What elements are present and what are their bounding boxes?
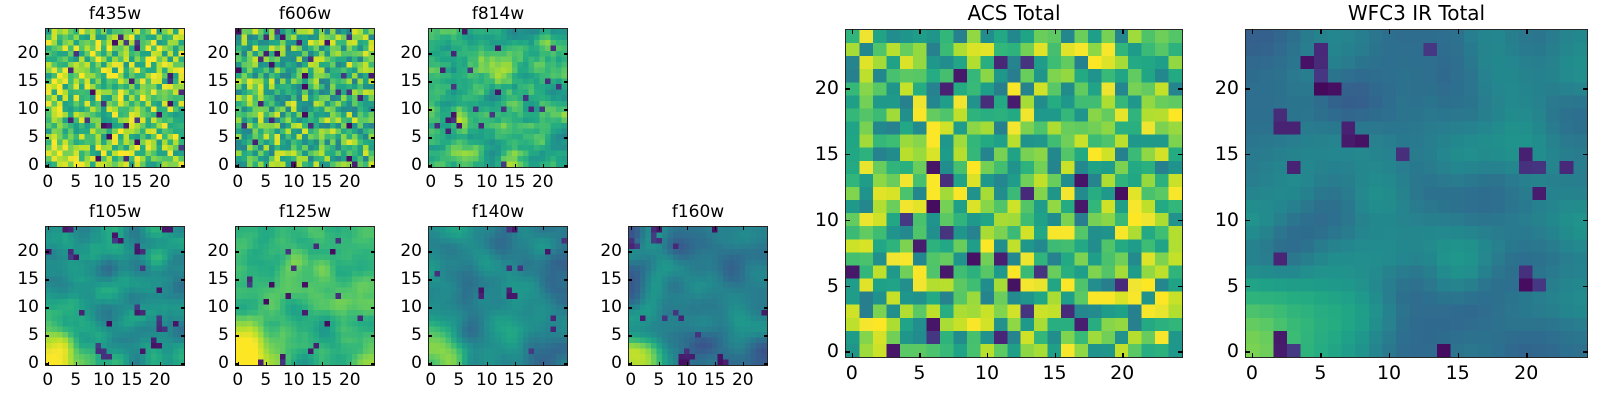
x-tick-top-f814w-10 — [487, 28, 488, 32]
heatmap-f125w[interactable] — [235, 226, 375, 366]
x-tick-top-acs-total-0 — [852, 29, 853, 34]
y-tick-acs-total-5 — [845, 286, 850, 287]
y-tick-f435w-10 — [45, 109, 49, 110]
y-tick-right-f606w-10 — [371, 109, 375, 110]
x-ticklabel-wfc3-ir-total-0: 0 — [1246, 362, 1258, 384]
x-ticklabel-acs-total-10: 10 — [975, 362, 999, 384]
y-tick-f125w-0 — [235, 363, 239, 364]
heatmap-pixels — [429, 29, 567, 167]
heatmap-f606w[interactable] — [235, 28, 375, 168]
x-ticklabel-f140w-10: 10 — [476, 370, 498, 390]
x-tick-top-f814w-5 — [459, 28, 460, 32]
y-ticklabel-f125w-0: 0 — [218, 353, 229, 373]
y-ticklabel-f606w-10: 10 — [207, 99, 229, 119]
y-ticklabel-f140w-10: 10 — [400, 297, 422, 317]
y-tick-right-f435w-5 — [181, 137, 185, 138]
x-ticklabel-f125w-10: 10 — [283, 370, 305, 390]
y-ticklabel-f814w-20: 20 — [400, 43, 422, 63]
y-ticklabel-f606w-20: 20 — [207, 43, 229, 63]
y-tick-right-wfc3-ir-total-10 — [1583, 220, 1588, 221]
x-tick-top-f435w-5 — [76, 28, 77, 32]
y-ticklabel-wfc3-ir-total-5: 5 — [1227, 275, 1239, 297]
heatmap-wfc3-ir-total[interactable] — [1245, 29, 1588, 358]
y-tick-f160w-20 — [628, 251, 632, 252]
x-tick-top-f606w-15 — [322, 28, 323, 32]
y-ticklabel-wfc3-ir-total-15: 15 — [1215, 143, 1239, 165]
y-ticklabel-f606w-15: 15 — [207, 71, 229, 91]
x-tick-top-f160w-10 — [687, 226, 688, 230]
x-tick-f606w-20 — [350, 164, 351, 168]
x-tick-wfc3-ir-total-5 — [1320, 353, 1321, 358]
y-tick-right-f814w-5 — [564, 137, 568, 138]
heatmap-acs-total[interactable] — [845, 29, 1183, 358]
y-tick-f606w-15 — [235, 81, 239, 82]
y-ticklabel-f125w-20: 20 — [207, 241, 229, 261]
heatmap-pixels — [846, 30, 1182, 357]
x-tick-f105w-10 — [104, 362, 105, 366]
y-tick-right-f814w-20 — [564, 53, 568, 54]
y-ticklabel-f160w-5: 5 — [611, 325, 622, 345]
x-ticklabel-f125w-5: 5 — [260, 370, 271, 390]
y-tick-f140w-5 — [428, 335, 432, 336]
x-tick-f140w-15 — [515, 362, 516, 366]
y-tick-f606w-20 — [235, 53, 239, 54]
heatmap-f814w[interactable] — [428, 28, 568, 168]
y-tick-f140w-10 — [428, 307, 432, 308]
y-tick-right-wfc3-ir-total-15 — [1583, 154, 1588, 155]
panel-f160w: f160w 0055101015152020 — [628, 226, 768, 366]
x-ticklabel-f140w-0: 0 — [425, 370, 436, 390]
y-tick-right-f160w-10 — [764, 307, 768, 308]
panel-title-wfc3-ir-total: WFC3 IR Total — [1245, 1, 1588, 25]
y-tick-right-wfc3-ir-total-20 — [1583, 88, 1588, 89]
y-tick-right-f125w-20 — [371, 251, 375, 252]
y-tick-right-f160w-5 — [764, 335, 768, 336]
y-tick-right-f140w-10 — [564, 307, 568, 308]
y-tick-right-f606w-15 — [371, 81, 375, 82]
y-tick-acs-total-15 — [845, 154, 850, 155]
x-tick-top-f435w-15 — [132, 28, 133, 32]
y-ticklabel-f140w-0: 0 — [411, 353, 422, 373]
heatmap-pixels — [236, 29, 374, 167]
x-ticklabel-f814w-15: 15 — [504, 172, 526, 192]
y-tick-right-f814w-0 — [564, 165, 568, 166]
x-tick-top-f814w-0 — [431, 28, 432, 32]
x-ticklabel-f606w-10: 10 — [283, 172, 305, 192]
x-tick-f814w-15 — [515, 164, 516, 168]
y-tick-f814w-5 — [428, 137, 432, 138]
x-tick-wfc3-ir-total-15 — [1458, 353, 1459, 358]
y-tick-right-wfc3-ir-total-5 — [1583, 286, 1588, 287]
x-ticklabel-f105w-0: 0 — [42, 370, 53, 390]
x-tick-f606w-5 — [266, 164, 267, 168]
y-tick-f435w-5 — [45, 137, 49, 138]
x-ticklabel-acs-total-5: 5 — [913, 362, 925, 384]
x-tick-acs-total-0 — [852, 353, 853, 358]
x-tick-top-wfc3-ir-total-5 — [1320, 29, 1321, 34]
panel-title-acs-total: ACS Total — [845, 1, 1183, 25]
x-ticklabel-acs-total-15: 15 — [1042, 362, 1066, 384]
y-ticklabel-acs-total-0: 0 — [827, 340, 839, 362]
x-tick-top-f105w-0 — [48, 226, 49, 230]
x-ticklabel-f140w-20: 20 — [532, 370, 554, 390]
x-tick-f435w-20 — [160, 164, 161, 168]
y-tick-right-f435w-0 — [181, 165, 185, 166]
x-ticklabel-f160w-5: 5 — [653, 370, 664, 390]
x-tick-f105w-20 — [160, 362, 161, 366]
y-tick-f160w-10 — [628, 307, 632, 308]
x-tick-top-wfc3-ir-total-10 — [1389, 29, 1390, 34]
x-ticklabel-f435w-15: 15 — [121, 172, 143, 192]
y-tick-right-f160w-15 — [764, 279, 768, 280]
x-tick-f125w-5 — [266, 362, 267, 366]
y-tick-f814w-15 — [428, 81, 432, 82]
y-tick-f105w-0 — [45, 363, 49, 364]
x-tick-top-f140w-10 — [487, 226, 488, 230]
y-tick-right-f435w-20 — [181, 53, 185, 54]
x-tick-f125w-15 — [322, 362, 323, 366]
heatmap-f160w[interactable] — [628, 226, 768, 366]
y-ticklabel-f105w-5: 5 — [28, 325, 39, 345]
panel-title-f814w: f814w — [428, 4, 568, 24]
y-tick-right-f814w-15 — [564, 81, 568, 82]
panel-f435w: f435w 0055101015152020 — [45, 28, 185, 168]
y-ticklabel-wfc3-ir-total-20: 20 — [1215, 77, 1239, 99]
x-ticklabel-f160w-10: 10 — [676, 370, 698, 390]
y-tick-right-f606w-20 — [371, 53, 375, 54]
x-tick-f140w-5 — [459, 362, 460, 366]
x-tick-f140w-10 — [487, 362, 488, 366]
x-tick-top-f160w-20 — [743, 226, 744, 230]
x-ticklabel-f105w-10: 10 — [93, 370, 115, 390]
x-tick-top-wfc3-ir-total-20 — [1526, 29, 1527, 34]
y-ticklabel-f140w-15: 15 — [400, 269, 422, 289]
x-tick-top-acs-total-15 — [1055, 29, 1056, 34]
y-tick-right-f140w-15 — [564, 279, 568, 280]
y-tick-wfc3-ir-total-5 — [1245, 286, 1250, 287]
y-ticklabel-f814w-5: 5 — [411, 127, 422, 147]
x-ticklabel-f140w-5: 5 — [453, 370, 464, 390]
x-tick-wfc3-ir-total-0 — [1252, 353, 1253, 358]
y-tick-f160w-0 — [628, 363, 632, 364]
y-ticklabel-f435w-5: 5 — [28, 127, 39, 147]
y-tick-right-f105w-10 — [181, 307, 185, 308]
x-tick-top-f140w-0 — [431, 226, 432, 230]
y-ticklabel-acs-total-15: 15 — [815, 143, 839, 165]
heatmap-pixels — [629, 227, 767, 365]
y-tick-f606w-0 — [235, 165, 239, 166]
y-tick-f606w-5 — [235, 137, 239, 138]
y-tick-right-f105w-15 — [181, 279, 185, 280]
x-tick-top-f105w-20 — [160, 226, 161, 230]
y-tick-f160w-15 — [628, 279, 632, 280]
y-tick-f125w-15 — [235, 279, 239, 280]
heatmap-pixels — [46, 29, 184, 167]
heatmap-pixels — [429, 227, 567, 365]
y-tick-right-f606w-5 — [371, 137, 375, 138]
y-tick-right-f105w-0 — [181, 363, 185, 364]
x-tick-acs-total-5 — [919, 353, 920, 358]
y-tick-right-f125w-5 — [371, 335, 375, 336]
x-ticklabel-f105w-20: 20 — [149, 370, 171, 390]
x-tick-top-f814w-20 — [543, 28, 544, 32]
y-ticklabel-f814w-10: 10 — [400, 99, 422, 119]
y-tick-acs-total-0 — [845, 351, 850, 352]
y-tick-f814w-20 — [428, 53, 432, 54]
x-ticklabel-f606w-0: 0 — [232, 172, 243, 192]
x-ticklabel-f160w-0: 0 — [625, 370, 636, 390]
x-tick-f435w-10 — [104, 164, 105, 168]
y-ticklabel-f606w-0: 0 — [218, 155, 229, 175]
panel-f814w: f814w 0055101015152020 — [428, 28, 568, 168]
x-tick-top-f814w-15 — [515, 28, 516, 32]
x-tick-top-f606w-0 — [238, 28, 239, 32]
y-ticklabel-f606w-5: 5 — [218, 127, 229, 147]
y-ticklabel-f160w-15: 15 — [600, 269, 622, 289]
x-tick-top-f140w-5 — [459, 226, 460, 230]
x-tick-top-f125w-5 — [266, 226, 267, 230]
panel-title-f105w: f105w — [45, 202, 185, 222]
x-ticklabel-f140w-15: 15 — [504, 370, 526, 390]
x-tick-wfc3-ir-total-10 — [1389, 353, 1390, 358]
x-tick-f814w-10 — [487, 164, 488, 168]
y-tick-right-wfc3-ir-total-0 — [1583, 351, 1588, 352]
y-tick-right-f435w-10 — [181, 109, 185, 110]
y-tick-f140w-20 — [428, 251, 432, 252]
y-tick-f105w-15 — [45, 279, 49, 280]
y-ticklabel-f160w-10: 10 — [600, 297, 622, 317]
x-ticklabel-f435w-10: 10 — [93, 172, 115, 192]
y-ticklabel-f105w-10: 10 — [17, 297, 39, 317]
x-tick-f435w-5 — [76, 164, 77, 168]
y-ticklabel-acs-total-20: 20 — [815, 77, 839, 99]
heatmap-f105w[interactable] — [45, 226, 185, 366]
x-tick-f435w-15 — [132, 164, 133, 168]
x-ticklabel-acs-total-20: 20 — [1110, 362, 1134, 384]
y-tick-right-f606w-0 — [371, 165, 375, 166]
x-ticklabel-f606w-15: 15 — [311, 172, 333, 192]
x-tick-top-f435w-0 — [48, 28, 49, 32]
heatmap-f140w[interactable] — [428, 226, 568, 366]
y-ticklabel-wfc3-ir-total-0: 0 — [1227, 340, 1239, 362]
y-tick-right-f435w-15 — [181, 81, 185, 82]
y-tick-right-f140w-20 — [564, 251, 568, 252]
x-tick-f140w-20 — [543, 362, 544, 366]
y-tick-right-f125w-15 — [371, 279, 375, 280]
x-tick-top-f435w-20 — [160, 28, 161, 32]
x-tick-wfc3-ir-total-20 — [1526, 353, 1527, 358]
y-ticklabel-f814w-15: 15 — [400, 71, 422, 91]
x-tick-f160w-15 — [715, 362, 716, 366]
y-tick-f435w-15 — [45, 81, 49, 82]
y-ticklabel-wfc3-ir-total-10: 10 — [1215, 209, 1239, 231]
x-tick-top-f606w-10 — [294, 28, 295, 32]
x-tick-top-f105w-10 — [104, 226, 105, 230]
y-tick-right-f140w-5 — [564, 335, 568, 336]
x-ticklabel-f125w-0: 0 — [232, 370, 243, 390]
x-ticklabel-f160w-20: 20 — [732, 370, 754, 390]
y-tick-acs-total-20 — [845, 88, 850, 89]
x-tick-top-f606w-5 — [266, 28, 267, 32]
y-ticklabel-f160w-0: 0 — [611, 353, 622, 373]
x-tick-top-f125w-0 — [238, 226, 239, 230]
y-ticklabel-f435w-10: 10 — [17, 99, 39, 119]
x-ticklabel-f814w-5: 5 — [453, 172, 464, 192]
x-ticklabel-acs-total-0: 0 — [846, 362, 858, 384]
x-tick-acs-total-15 — [1055, 353, 1056, 358]
y-tick-f125w-20 — [235, 251, 239, 252]
x-tick-top-f160w-5 — [659, 226, 660, 230]
x-tick-f160w-20 — [743, 362, 744, 366]
y-tick-right-f125w-10 — [371, 307, 375, 308]
x-ticklabel-f606w-20: 20 — [339, 172, 361, 192]
y-tick-acs-total-10 — [845, 220, 850, 221]
y-tick-f105w-10 — [45, 307, 49, 308]
y-tick-f160w-5 — [628, 335, 632, 336]
panel-title-f140w: f140w — [428, 202, 568, 222]
heatmap-pixels — [1246, 30, 1587, 357]
x-tick-f105w-5 — [76, 362, 77, 366]
y-tick-f105w-20 — [45, 251, 49, 252]
y-tick-f606w-10 — [235, 109, 239, 110]
y-tick-right-f105w-5 — [181, 335, 185, 336]
y-tick-f814w-10 — [428, 109, 432, 110]
y-tick-f125w-5 — [235, 335, 239, 336]
figure-canvas: f435w 0055101015152020 f606w 00551010151… — [0, 0, 1600, 400]
y-tick-right-acs-total-10 — [1178, 220, 1183, 221]
x-tick-top-wfc3-ir-total-15 — [1458, 29, 1459, 34]
y-tick-right-acs-total-20 — [1178, 88, 1183, 89]
y-tick-right-acs-total-0 — [1178, 351, 1183, 352]
x-ticklabel-f105w-5: 5 — [70, 370, 81, 390]
x-ticklabel-wfc3-ir-total-10: 10 — [1377, 362, 1401, 384]
y-tick-f435w-0 — [45, 165, 49, 166]
y-ticklabel-f814w-0: 0 — [411, 155, 422, 175]
x-tick-top-f105w-5 — [76, 226, 77, 230]
x-ticklabel-f814w-20: 20 — [532, 172, 554, 192]
y-ticklabel-f140w-5: 5 — [411, 325, 422, 345]
y-ticklabel-acs-total-5: 5 — [827, 275, 839, 297]
panel-title-f606w: f606w — [235, 4, 375, 24]
x-tick-f160w-10 — [687, 362, 688, 366]
y-ticklabel-f105w-15: 15 — [17, 269, 39, 289]
x-tick-top-f125w-20 — [350, 226, 351, 230]
panel-f140w: f140w 0055101015152020 — [428, 226, 568, 366]
x-tick-f105w-15 — [132, 362, 133, 366]
x-tick-top-wfc3-ir-total-0 — [1252, 29, 1253, 34]
x-tick-f606w-10 — [294, 164, 295, 168]
y-ticklabel-f105w-0: 0 — [28, 353, 39, 373]
panel-f606w: f606w 0055101015152020 — [235, 28, 375, 168]
x-ticklabel-wfc3-ir-total-15: 15 — [1446, 362, 1470, 384]
y-tick-f140w-15 — [428, 279, 432, 280]
heatmap-f435w[interactable] — [45, 28, 185, 168]
y-tick-right-f160w-20 — [764, 251, 768, 252]
panel-title-f160w: f160w — [628, 202, 768, 222]
y-ticklabel-f435w-20: 20 — [17, 43, 39, 63]
y-ticklabel-f435w-15: 15 — [17, 71, 39, 91]
panel-title-f125w: f125w — [235, 202, 375, 222]
x-tick-top-f160w-15 — [715, 226, 716, 230]
x-ticklabel-wfc3-ir-total-20: 20 — [1514, 362, 1538, 384]
x-tick-f814w-5 — [459, 164, 460, 168]
x-tick-top-acs-total-20 — [1122, 29, 1123, 34]
x-ticklabel-f435w-0: 0 — [42, 172, 53, 192]
y-tick-right-f140w-0 — [564, 363, 568, 364]
x-ticklabel-f814w-10: 10 — [476, 172, 498, 192]
x-tick-top-f105w-15 — [132, 226, 133, 230]
panel-f125w: f125w 0055101015152020 — [235, 226, 375, 366]
y-tick-f125w-10 — [235, 307, 239, 308]
panel-title-f435w: f435w — [45, 4, 185, 24]
y-tick-right-acs-total-5 — [1178, 286, 1183, 287]
y-tick-wfc3-ir-total-15 — [1245, 154, 1250, 155]
x-ticklabel-f435w-5: 5 — [70, 172, 81, 192]
y-tick-right-f125w-0 — [371, 363, 375, 364]
y-tick-wfc3-ir-total-20 — [1245, 88, 1250, 89]
x-tick-top-acs-total-10 — [987, 29, 988, 34]
y-ticklabel-f435w-0: 0 — [28, 155, 39, 175]
y-tick-right-f160w-0 — [764, 363, 768, 364]
x-tick-f606w-15 — [322, 164, 323, 168]
x-ticklabel-f606w-5: 5 — [260, 172, 271, 192]
x-ticklabel-f160w-15: 15 — [704, 370, 726, 390]
x-tick-top-f140w-20 — [543, 226, 544, 230]
x-tick-top-acs-total-5 — [919, 29, 920, 34]
x-tick-f814w-20 — [543, 164, 544, 168]
y-ticklabel-f125w-10: 10 — [207, 297, 229, 317]
y-tick-f140w-0 — [428, 363, 432, 364]
x-tick-top-f140w-15 — [515, 226, 516, 230]
y-ticklabel-f105w-20: 20 — [17, 241, 39, 261]
x-tick-top-f125w-15 — [322, 226, 323, 230]
x-tick-top-f435w-10 — [104, 28, 105, 32]
x-tick-f125w-10 — [294, 362, 295, 366]
x-ticklabel-f105w-15: 15 — [121, 370, 143, 390]
heatmap-pixels — [46, 227, 184, 365]
x-ticklabel-f435w-20: 20 — [149, 172, 171, 192]
y-tick-f435w-20 — [45, 53, 49, 54]
y-ticklabel-f125w-15: 15 — [207, 269, 229, 289]
x-ticklabel-f125w-15: 15 — [311, 370, 333, 390]
y-ticklabel-f140w-20: 20 — [400, 241, 422, 261]
y-ticklabel-f160w-20: 20 — [600, 241, 622, 261]
y-ticklabel-acs-total-10: 10 — [815, 209, 839, 231]
y-ticklabel-f125w-5: 5 — [218, 325, 229, 345]
x-tick-f160w-5 — [659, 362, 660, 366]
x-ticklabel-f814w-0: 0 — [425, 172, 436, 192]
y-tick-wfc3-ir-total-10 — [1245, 220, 1250, 221]
x-tick-top-f606w-20 — [350, 28, 351, 32]
x-tick-f125w-20 — [350, 362, 351, 366]
x-tick-top-f125w-10 — [294, 226, 295, 230]
y-tick-right-f105w-20 — [181, 251, 185, 252]
panel-f105w: f105w 0055101015152020 — [45, 226, 185, 366]
heatmap-pixels — [236, 227, 374, 365]
x-tick-acs-total-20 — [1122, 353, 1123, 358]
y-tick-f105w-5 — [45, 335, 49, 336]
x-ticklabel-wfc3-ir-total-5: 5 — [1314, 362, 1326, 384]
y-tick-right-acs-total-15 — [1178, 154, 1183, 155]
panel-acs-total: ACS Total 0055101015152020 — [845, 29, 1183, 358]
x-tick-acs-total-10 — [987, 353, 988, 358]
y-tick-wfc3-ir-total-0 — [1245, 351, 1250, 352]
x-tick-top-f160w-0 — [631, 226, 632, 230]
x-ticklabel-f125w-20: 20 — [339, 370, 361, 390]
panel-wfc3-ir-total: WFC3 IR Total 0055101015152020 — [1245, 29, 1588, 358]
y-tick-f814w-0 — [428, 165, 432, 166]
y-tick-right-f814w-10 — [564, 109, 568, 110]
